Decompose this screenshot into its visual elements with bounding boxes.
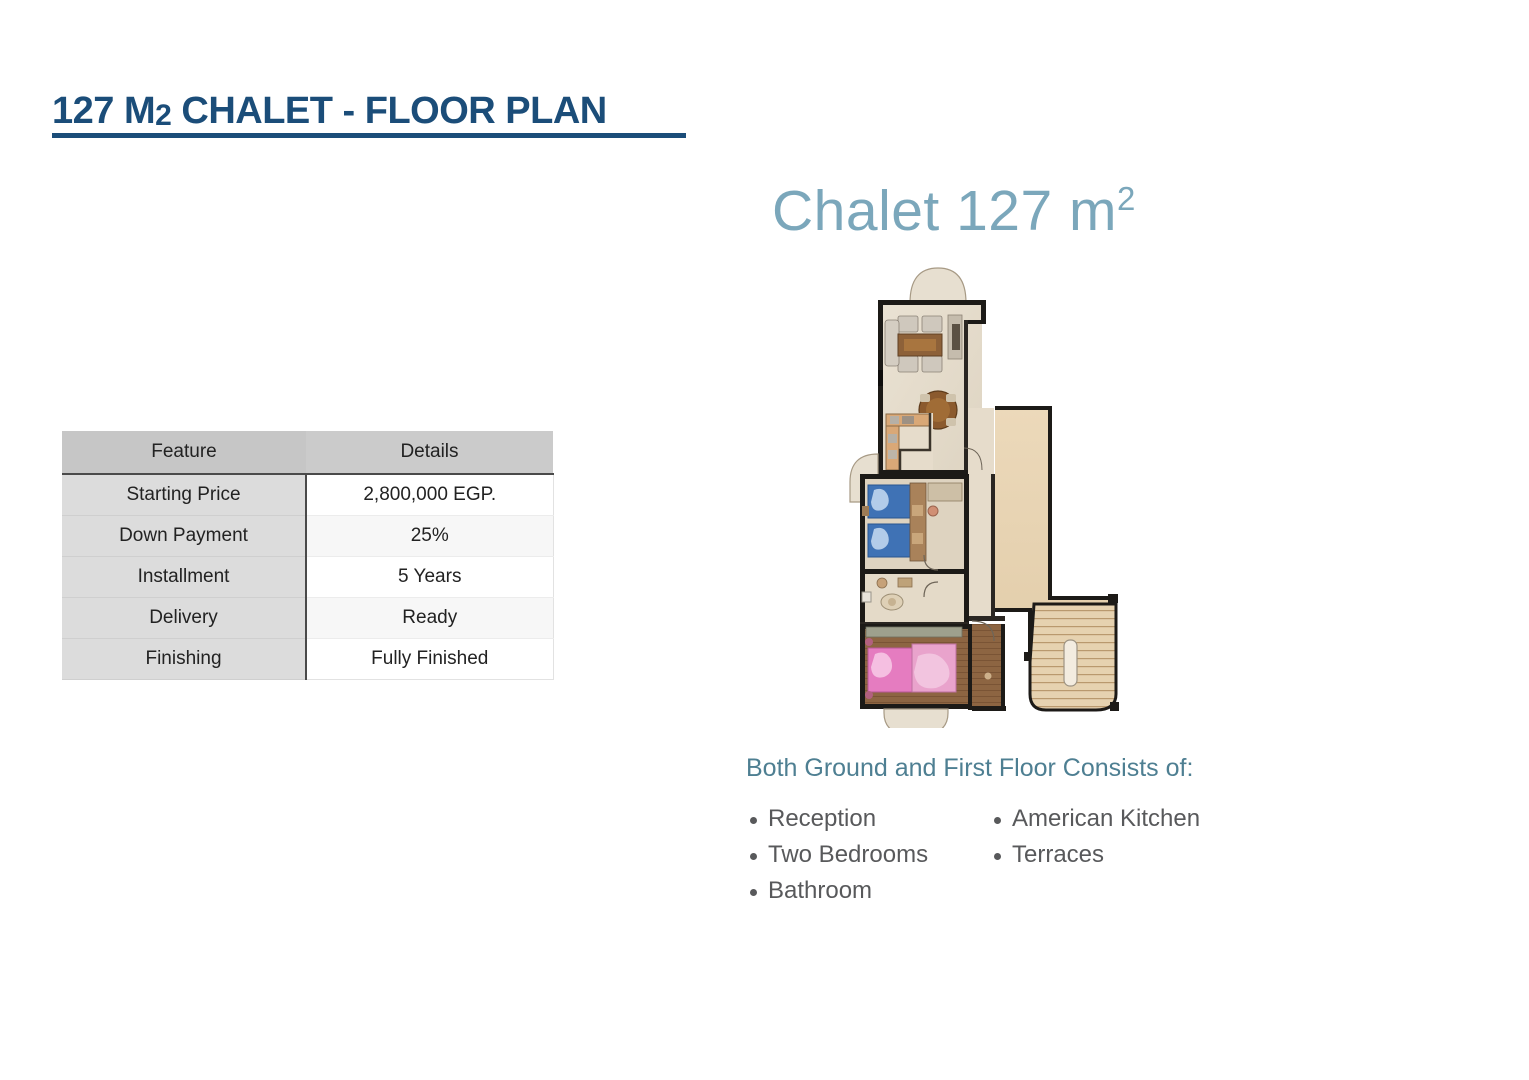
table-row: Starting Price 2,800,000 EGP. [62,474,553,516]
specifications-table: Feature Details Starting Price 2,800,000… [62,431,554,680]
plan-heading-text: Chalet 127 m [772,179,1117,243]
row-label-finishing: Finishing [62,639,306,680]
table-header-row: Feature Details [62,431,553,474]
row-value-installment: 5 Years [306,557,553,598]
list-item: American Kitchen [992,801,1200,837]
entry-hall [969,616,1006,711]
table-row: Down Payment 25% [62,516,553,557]
features-column-left: Reception Two Bedrooms Bathroom [748,801,928,909]
list-item: Two Bedrooms [748,837,928,873]
row-label-installment: Installment [62,557,306,598]
page-title-superscript: 2 [155,99,171,132]
page-title-rest: CHALET - FLOOR PLAN [171,90,606,132]
table-row: Installment 5 Years [62,557,553,598]
page-title-main: 127 M [52,90,155,132]
page-title: 127 M2 CHALET - FLOOR PLAN [52,92,607,130]
features-column-right: American Kitchen Terraces [992,801,1200,873]
floor-plan-image [838,258,1128,728]
table-row: Finishing Fully Finished [62,639,553,680]
row-value-down-payment: 25% [306,516,553,557]
row-value-delivery: Ready [306,598,553,639]
plan-heading: Chalet 127 m2 [772,183,1136,240]
list-item: Terraces [992,837,1200,873]
bedroom-pink [860,624,973,728]
terrace-main [995,408,1119,711]
column-header-details: Details [306,431,553,474]
title-underline-rule [52,133,686,138]
list-item: Bathroom [748,873,928,909]
row-label-starting-price: Starting Price [62,474,306,516]
list-item: Reception [748,801,928,837]
table-row: Delivery Ready [62,598,553,639]
row-value-starting-price: 2,800,000 EGP. [306,474,553,516]
bedroom-blue [860,474,968,574]
bathroom [860,574,969,628]
row-label-down-payment: Down Payment [62,516,306,557]
consists-heading: Both Ground and First Floor Consists of: [746,754,1193,783]
row-value-finishing: Fully Finished [306,639,553,680]
column-header-feature: Feature [62,431,306,474]
plan-heading-superscript: 2 [1117,180,1136,217]
row-label-delivery: Delivery [62,598,306,639]
